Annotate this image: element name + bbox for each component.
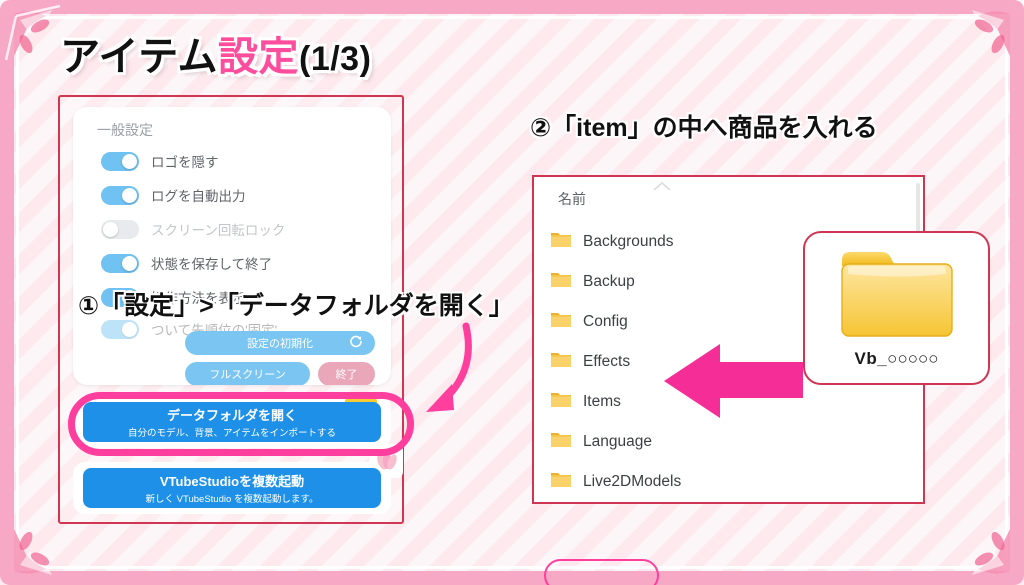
chevron-up-icon [651,179,673,198]
toggle-knob [122,256,137,271]
setting-label: ログを自動出力 [151,185,246,205]
folder-icon [550,351,572,373]
folder-row[interactable]: Backgrounds [550,231,673,253]
setting-toggle-row[interactable]: スクリーン回転ロック [101,219,285,239]
multi-launch-card[interactable]: VTubeStudioを複数起動 新しく VTubeStudio を複数起動しま… [73,462,391,514]
folder-icon [550,391,572,413]
folder-row[interactable]: Backup [550,271,635,293]
folder-row[interactable]: Config [550,311,628,333]
folder-icon [550,271,572,293]
quit-label: 終了 [336,366,358,382]
multi-launch-button[interactable]: VTubeStudioを複数起動 新しく VTubeStudio を複数起動しま… [83,468,381,508]
reset-arrow-icon [349,335,363,352]
annotation-step-2: ②「item」の中へ商品を入れる [530,108,878,144]
large-folder-icon [838,248,956,345]
toggle-switch[interactable] [101,220,139,239]
folder-name: Live2DModels [583,473,681,491]
folder-name: Language [583,433,652,451]
reset-settings-label: 設定の初期化 [247,335,313,351]
toggle-knob [122,322,137,337]
folder-name: Items [583,393,621,411]
toggle-switch[interactable] [101,320,139,339]
folder-name: Backup [583,273,635,291]
folder-name: Effects [583,353,630,371]
page-title-plain: アイテム [60,35,218,79]
toggle-switch[interactable] [101,152,139,171]
folder-row[interactable]: Live2DModels [550,471,681,493]
setting-label: スクリーン回転ロック [151,219,285,239]
setting-label: 状態を保存して終了 [151,253,272,273]
folder-icon [550,311,572,333]
setting-toggle-row[interactable]: ログを自動出力 [101,185,246,205]
sample-folder-prefix: Vb_ [854,349,887,368]
folder-name: Backgrounds [583,233,673,251]
setting-toggle-row[interactable]: ロゴを隠す [101,151,219,171]
general-settings-card: 一般設定 ロゴを隠す ログを自動出力 スクリーン回転ロック 状態を保存して終了 … [73,107,391,385]
multi-launch-title: VTubeStudioを複数起動 [160,471,304,490]
quit-button[interactable]: 終了 [318,362,375,385]
annotation-step-1: ①「設定」>「データフォルダを開く」 [78,286,514,322]
page-title-pagination: (1/3) [299,40,371,78]
corner-ornament-icon [932,0,1024,92]
sample-folder-circles: ○○○○○ [887,349,938,368]
sample-folder-callout: Vb_○○○○○ [803,231,990,385]
reset-settings-button[interactable]: 設定の初期化 [185,331,375,355]
fullscreen-button[interactable]: フルスクリーン [185,362,310,385]
toggle-switch[interactable] [101,186,139,205]
folder-row-items[interactable]: Items [550,391,621,413]
slide-canvas: アイテム設定(1/3) 一般設定 ロゴを隠す ログを自動出力 スクリーン回転ロッ… [0,0,1024,585]
multi-launch-subtitle: 新しく VTubeStudio を複数起動します。 [146,491,319,505]
folder-row[interactable]: Language [550,431,652,453]
general-settings-heading: 一般設定 [97,120,153,140]
folder-icon [550,431,572,453]
toggle-knob [103,222,118,237]
sample-folder-name: Vb_○○○○○ [854,349,938,369]
page-title: アイテム設定(1/3) [60,24,371,82]
toggle-knob [122,154,137,169]
items-folder-highlight [544,559,659,585]
setting-label: ロゴを隠す [151,151,219,171]
column-header-name[interactable]: 名前 [558,189,586,209]
toggle-knob [122,188,137,203]
fullscreen-label: フルスクリーン [209,366,285,382]
folder-icon [550,471,572,493]
page-title-accent: 設定 [218,35,299,79]
folder-icon [550,231,572,253]
folder-name: Config [583,313,628,331]
open-data-folder-highlight [68,392,414,456]
folder-row[interactable]: Effects [550,351,630,373]
toggle-switch[interactable] [101,254,139,273]
setting-toggle-row[interactable]: 状態を保存して終了 [101,253,272,273]
curved-arrow-down-left-icon [408,318,488,433]
corner-ornament-icon [932,493,1024,585]
